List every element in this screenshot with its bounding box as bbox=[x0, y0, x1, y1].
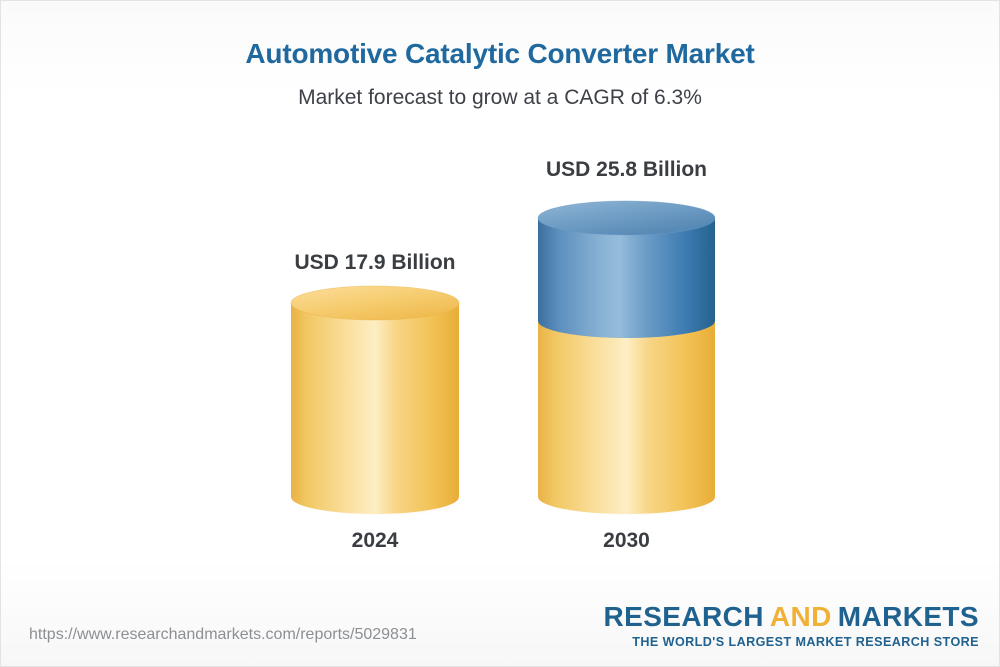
bar-cylinder-2030[interactable] bbox=[538, 201, 715, 516]
cylinder-graphic-2030 bbox=[538, 201, 715, 516]
bar-value-label: USD 17.9 Billion bbox=[294, 251, 455, 275]
chart-card: Automotive Catalytic Converter Market Ma… bbox=[0, 0, 1000, 667]
chart-footer: https://www.researchandmarkets.com/repor… bbox=[1, 588, 1000, 666]
chart-header: Automotive Catalytic Converter Market Ma… bbox=[1, 1, 999, 110]
logo-word-research: RESEARCH bbox=[604, 601, 764, 632]
chart-subtitle: Market forecast to grow at a CAGR of 6.3… bbox=[1, 85, 999, 110]
logo-wordmark: RESEARCHANDMARKETS bbox=[604, 603, 979, 631]
bar-group-2030: USD 25.8 Billion bbox=[538, 141, 715, 571]
logo-word-markets: MARKETS bbox=[838, 601, 979, 632]
logo-tagline: THE WORLD'S LARGEST MARKET RESEARCH STOR… bbox=[604, 636, 979, 649]
cylinder-graphic-2024 bbox=[291, 286, 459, 516]
bar-value-label: USD 25.8 Billion bbox=[546, 158, 707, 182]
research-and-markets-logo[interactable]: RESEARCHANDMARKETS THE WORLD'S LARGEST M… bbox=[604, 603, 979, 649]
page-title: Automotive Catalytic Converter Market bbox=[1, 37, 999, 71]
source-url-link[interactable]: https://www.researchandmarkets.com/repor… bbox=[29, 626, 417, 644]
bar-cylinder-2024[interactable] bbox=[291, 286, 459, 516]
logo-word-and: AND bbox=[770, 601, 832, 632]
category-label-2024: 2024 bbox=[352, 529, 399, 553]
bar-group-2024: USD 17.9 Billion bbox=[291, 141, 459, 571]
chart-plot-area: USD 17.9 Billion bbox=[1, 141, 1000, 571]
category-label-2030: 2030 bbox=[603, 529, 650, 553]
